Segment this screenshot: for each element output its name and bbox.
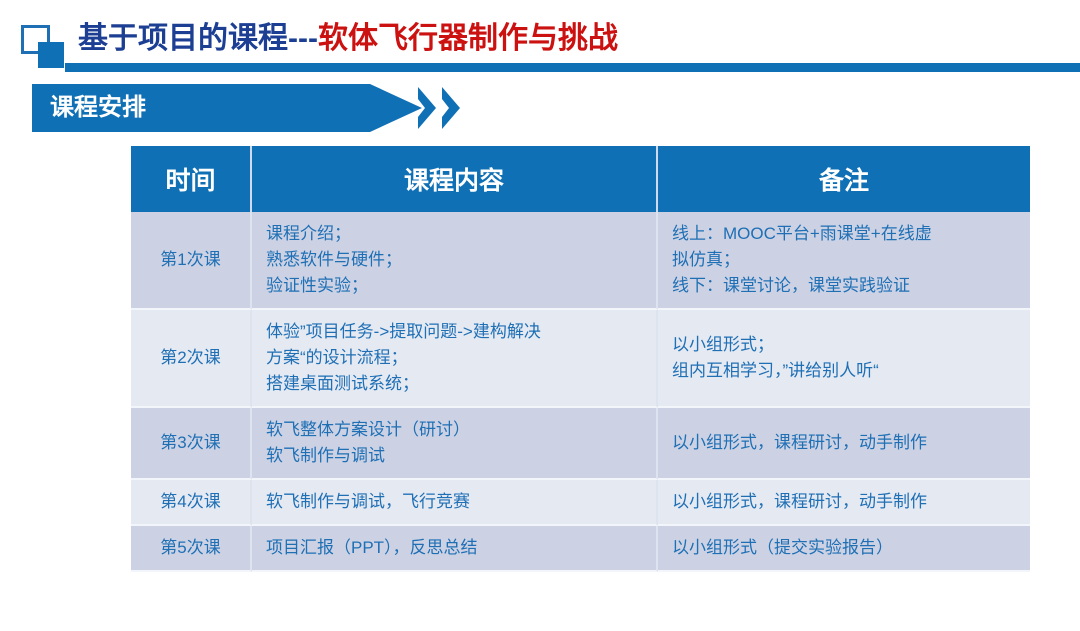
cell-content: 软飞整体方案设计（研讨） 软飞制作与调试 (252, 408, 658, 480)
page-title-highlight: 软体飞行器制作与挑战 (318, 22, 618, 55)
slide-header: 基于项目的课程---软体飞行器制作与挑战 (0, 0, 1080, 78)
cell-time: 第4次课 (131, 480, 252, 526)
cell-line: 以小组形式，课程研讨，动手制作 (672, 430, 1020, 456)
cell-notes: 以小组形式，课程研讨，动手制作 (658, 408, 1030, 480)
cell-notes: 线上：MOOC平台+雨课堂+在线虚 拟仿真； 线下：课堂讨论，课堂实践验证 (658, 212, 1030, 310)
cell-line: 软飞制作与调试，飞行竞赛 (266, 489, 646, 515)
cell-line: 验证性实验； (266, 273, 646, 299)
cell-line: 拟仿真； (672, 247, 1020, 273)
table-row: 第1次课 课程介绍； 熟悉软件与硬件； 验证性实验； 线上：MOOC平台+雨课堂… (131, 212, 1030, 310)
cell-line: 软飞制作与调试 (266, 443, 646, 469)
cell-line: 搭建桌面测试系统； (266, 371, 646, 397)
cell-notes: 以小组形式，课程研讨，动手制作 (658, 480, 1030, 526)
cell-line: 熟悉软件与硬件； (266, 247, 646, 273)
cell-line: 以小组形式（提交实验报告） (672, 535, 1020, 561)
cell-line: 以小组形式，课程研讨，动手制作 (672, 489, 1020, 515)
cell-notes: 以小组形式； 组内互相学习，”讲给别人听“ (658, 310, 1030, 408)
table-row: 第4次课 软飞制作与调试，飞行竞赛 以小组形式，课程研讨，动手制作 (131, 480, 1030, 526)
page-title-main: 基于项目的课程--- (78, 22, 318, 55)
table-header-row: 时间 课程内容 备注 (131, 146, 1030, 212)
cell-content: 软飞制作与调试，飞行竞赛 (252, 480, 658, 526)
column-header-time: 时间 (131, 146, 252, 212)
cell-content: 体验”项目任务->提取问题->建构解决 方案“的设计流程； 搭建桌面测试系统； (252, 310, 658, 408)
cell-time: 第3次课 (131, 408, 252, 480)
cell-time: 第1次课 (131, 212, 252, 310)
cell-line: 组内互相学习，”讲给别人听“ (672, 358, 1020, 384)
cell-line: 线下：课堂讨论，课堂实践验证 (672, 273, 1020, 299)
section-banner: 课程安排 (32, 84, 422, 132)
course-schedule-table: 时间 课程内容 备注 第1次课 课程介绍； 熟悉软件与硬件； 验证性实验； 线上… (131, 146, 1030, 572)
cell-time: 第2次课 (131, 310, 252, 408)
cell-line: 以小组形式； (672, 332, 1020, 358)
cell-line: 线上：MOOC平台+雨课堂+在线虚 (672, 221, 1020, 247)
square-filled-shape (38, 42, 64, 68)
cell-time: 第5次课 (131, 526, 252, 572)
column-header-content: 课程内容 (252, 146, 658, 212)
page-title: 基于项目的课程---软体飞行器制作与挑战 (78, 20, 618, 58)
overlapping-squares-icon (21, 25, 67, 69)
table-row: 第2次课 体验”项目任务->提取问题->建构解决 方案“的设计流程； 搭建桌面测… (131, 310, 1030, 408)
cell-content: 项目汇报（PPT），反思总结 (252, 526, 658, 572)
cell-line: 项目汇报（PPT），反思总结 (266, 535, 646, 561)
table-row: 第5次课 项目汇报（PPT），反思总结 以小组形式（提交实验报告） (131, 526, 1030, 572)
cell-line: 方案“的设计流程； (266, 345, 646, 371)
section-banner-label: 课程安排 (50, 84, 146, 132)
cell-line: 课程介绍； (266, 221, 646, 247)
cell-content: 课程介绍； 熟悉软件与硬件； 验证性实验； (252, 212, 658, 310)
cell-line: 软飞整体方案设计（研讨） (266, 417, 646, 443)
cell-line: 体验”项目任务->提取问题->建构解决 (266, 319, 646, 345)
cell-notes: 以小组形式（提交实验报告） (658, 526, 1030, 572)
column-header-notes: 备注 (658, 146, 1030, 212)
table-row: 第3次课 软飞整体方案设计（研讨） 软飞制作与调试 以小组形式，课程研讨，动手制… (131, 408, 1030, 480)
title-underline-rule (65, 63, 1080, 72)
